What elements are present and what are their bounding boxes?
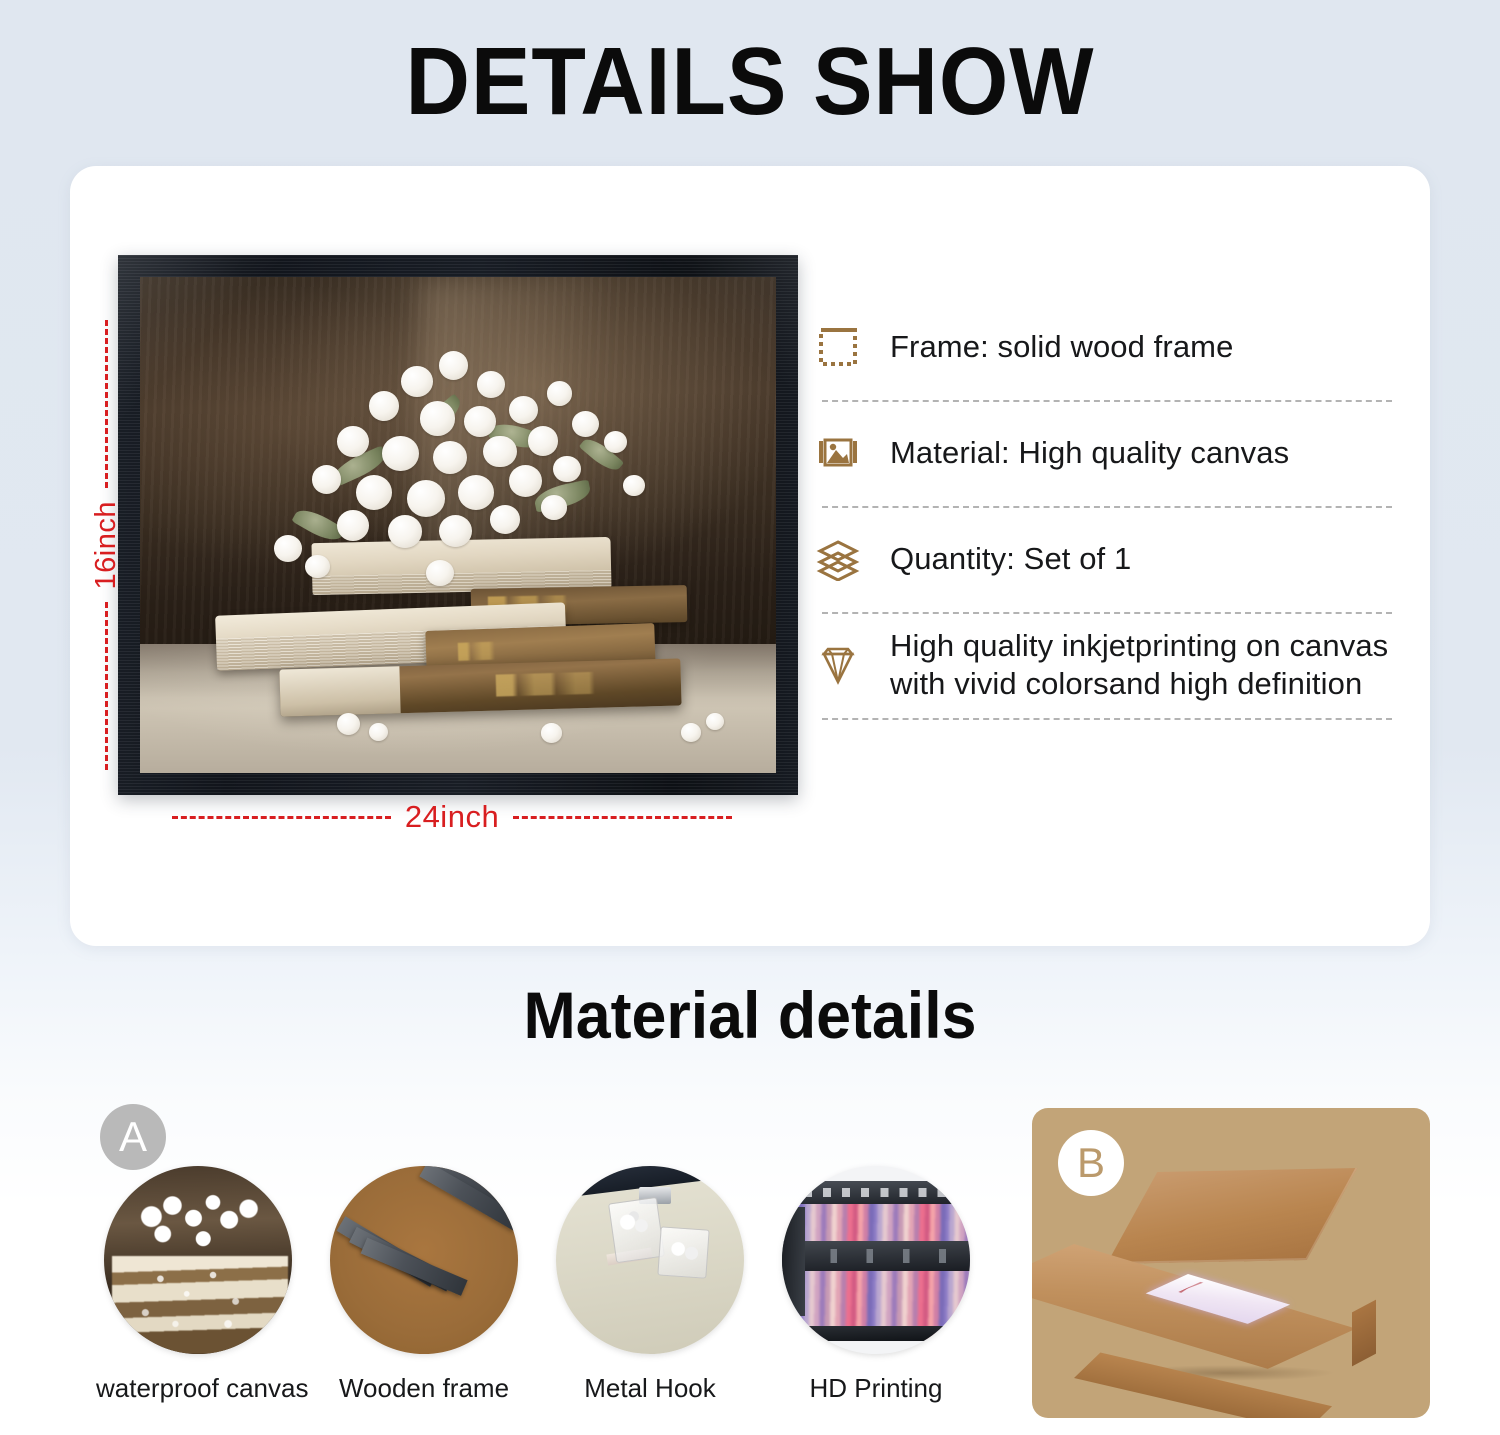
- painting-blossom: [369, 391, 400, 421]
- painting-blossom: [312, 465, 341, 494]
- feature-separator: [822, 718, 1392, 720]
- picture-icon: [812, 427, 864, 479]
- painting-blossom: [305, 555, 329, 578]
- frame-moulding: [361, 1238, 468, 1296]
- painting-blossom: [439, 515, 472, 547]
- dashed-line-segment: [105, 320, 108, 488]
- material-thumbnail-row: waterproof canvas Wooden frame Metal Hoo…: [96, 1166, 996, 1404]
- thumbnail-cell[interactable]: Metal Hook: [548, 1166, 752, 1404]
- dashed-line-segment: [105, 602, 108, 770]
- diamond-icon: [812, 639, 864, 691]
- painting-blossom: [509, 396, 538, 424]
- thumbnail-cell[interactable]: HD Printing: [774, 1166, 978, 1404]
- feature-row-frame: Frame: solid wood frame: [812, 296, 1392, 400]
- feature-row-printing: High quality inkjetprinting on canvas wi…: [812, 614, 1392, 718]
- metal-hook-thumbnail[interactable]: [556, 1166, 744, 1354]
- painting-blossom: [382, 436, 419, 472]
- painting-blossom: [477, 371, 505, 398]
- book-gold-embossing: [458, 640, 550, 661]
- feature-label: Quantity: Set of 1: [890, 540, 1131, 578]
- width-label: 24inch: [401, 799, 503, 835]
- painting-blossom: [458, 475, 494, 510]
- painting-blossom: [407, 480, 445, 517]
- thumb-water-droplets: [104, 1166, 292, 1354]
- framed-artwork: [118, 255, 798, 795]
- painting-blossom: [604, 431, 627, 453]
- painting-blossom: [337, 426, 369, 457]
- dashed-line-segment: [513, 816, 732, 819]
- painting-blossom: [401, 366, 433, 397]
- frame-icon: [812, 321, 864, 373]
- section-title-material-details: Material details: [38, 975, 1463, 1055]
- painting-blossom: [572, 411, 599, 437]
- painting-blossom: [528, 426, 559, 456]
- painting-blossom: [541, 495, 568, 520]
- hd-printing-thumbnail[interactable]: [782, 1166, 970, 1354]
- dashed-line-segment: [172, 816, 391, 819]
- canvas-print: [140, 277, 776, 773]
- thumbnail-caption: waterproof canvas: [96, 1373, 300, 1404]
- feature-label: Material: High quality canvas: [890, 434, 1289, 472]
- thumbnail-caption: Wooden frame: [322, 1373, 526, 1404]
- wood-frame: [118, 255, 798, 795]
- feature-label: High quality inkjetprinting on canvas wi…: [890, 627, 1392, 703]
- painting-blossom: [420, 401, 456, 436]
- height-label: 16inch: [90, 495, 123, 595]
- canvas-thumbnail[interactable]: [104, 1166, 292, 1354]
- material-panel-b: B: [1032, 1108, 1430, 1418]
- thumbnail-caption: Metal Hook: [548, 1373, 752, 1404]
- feature-separator: [822, 506, 1392, 508]
- printer-base: [790, 1326, 967, 1341]
- material-panel-a: A waterproof canvas Wooden frame: [96, 1104, 996, 1424]
- feature-separator: [822, 612, 1392, 614]
- hardware-bag: [658, 1226, 710, 1278]
- feature-label: Frame: solid wood frame: [890, 328, 1233, 366]
- feature-list: Frame: solid wood frame Material: High q…: [812, 296, 1392, 720]
- painting-blossom: [483, 436, 516, 468]
- wooden-frame-thumbnail[interactable]: [330, 1166, 518, 1354]
- painting-blossom: [509, 465, 542, 497]
- printer-top-rail: [790, 1181, 970, 1204]
- book-gold-embossing: [496, 671, 633, 696]
- cardboard-mailer-box: [1068, 1170, 1398, 1384]
- printer-carriage: [782, 1241, 970, 1271]
- printer-side-panel: [782, 1207, 805, 1316]
- painting-blossom-fallen: [681, 723, 701, 742]
- painting-blossom: [388, 515, 422, 548]
- thumbnail-cell[interactable]: Wooden frame: [322, 1166, 526, 1404]
- painting-blossom: [274, 535, 302, 562]
- panel-a-badge: A: [100, 1104, 166, 1170]
- thumbnail-cell[interactable]: waterproof canvas: [96, 1166, 300, 1404]
- feature-separator: [822, 400, 1392, 402]
- painting-blossom: [490, 505, 521, 534]
- painting-blossom: [337, 510, 369, 541]
- box-lid: [1107, 1168, 1358, 1264]
- painting-blossom: [426, 560, 454, 586]
- page-title: DETAILS SHOW: [53, 22, 1448, 142]
- hardware-bag: [608, 1197, 665, 1263]
- painting-blossom: [433, 441, 467, 475]
- layers-icon: [812, 533, 864, 585]
- feature-row-quantity: Quantity: Set of 1: [812, 508, 1392, 612]
- feature-row-material: Material: High quality canvas: [812, 402, 1392, 506]
- box-side-face: [1352, 1300, 1376, 1367]
- dimension-guide-height: 16inch: [92, 320, 120, 770]
- dimension-guide-width: 24inch: [172, 800, 732, 834]
- painting-blossom: [464, 406, 496, 437]
- painting-blossom: [356, 475, 392, 510]
- thumbnail-caption: HD Printing: [774, 1373, 978, 1404]
